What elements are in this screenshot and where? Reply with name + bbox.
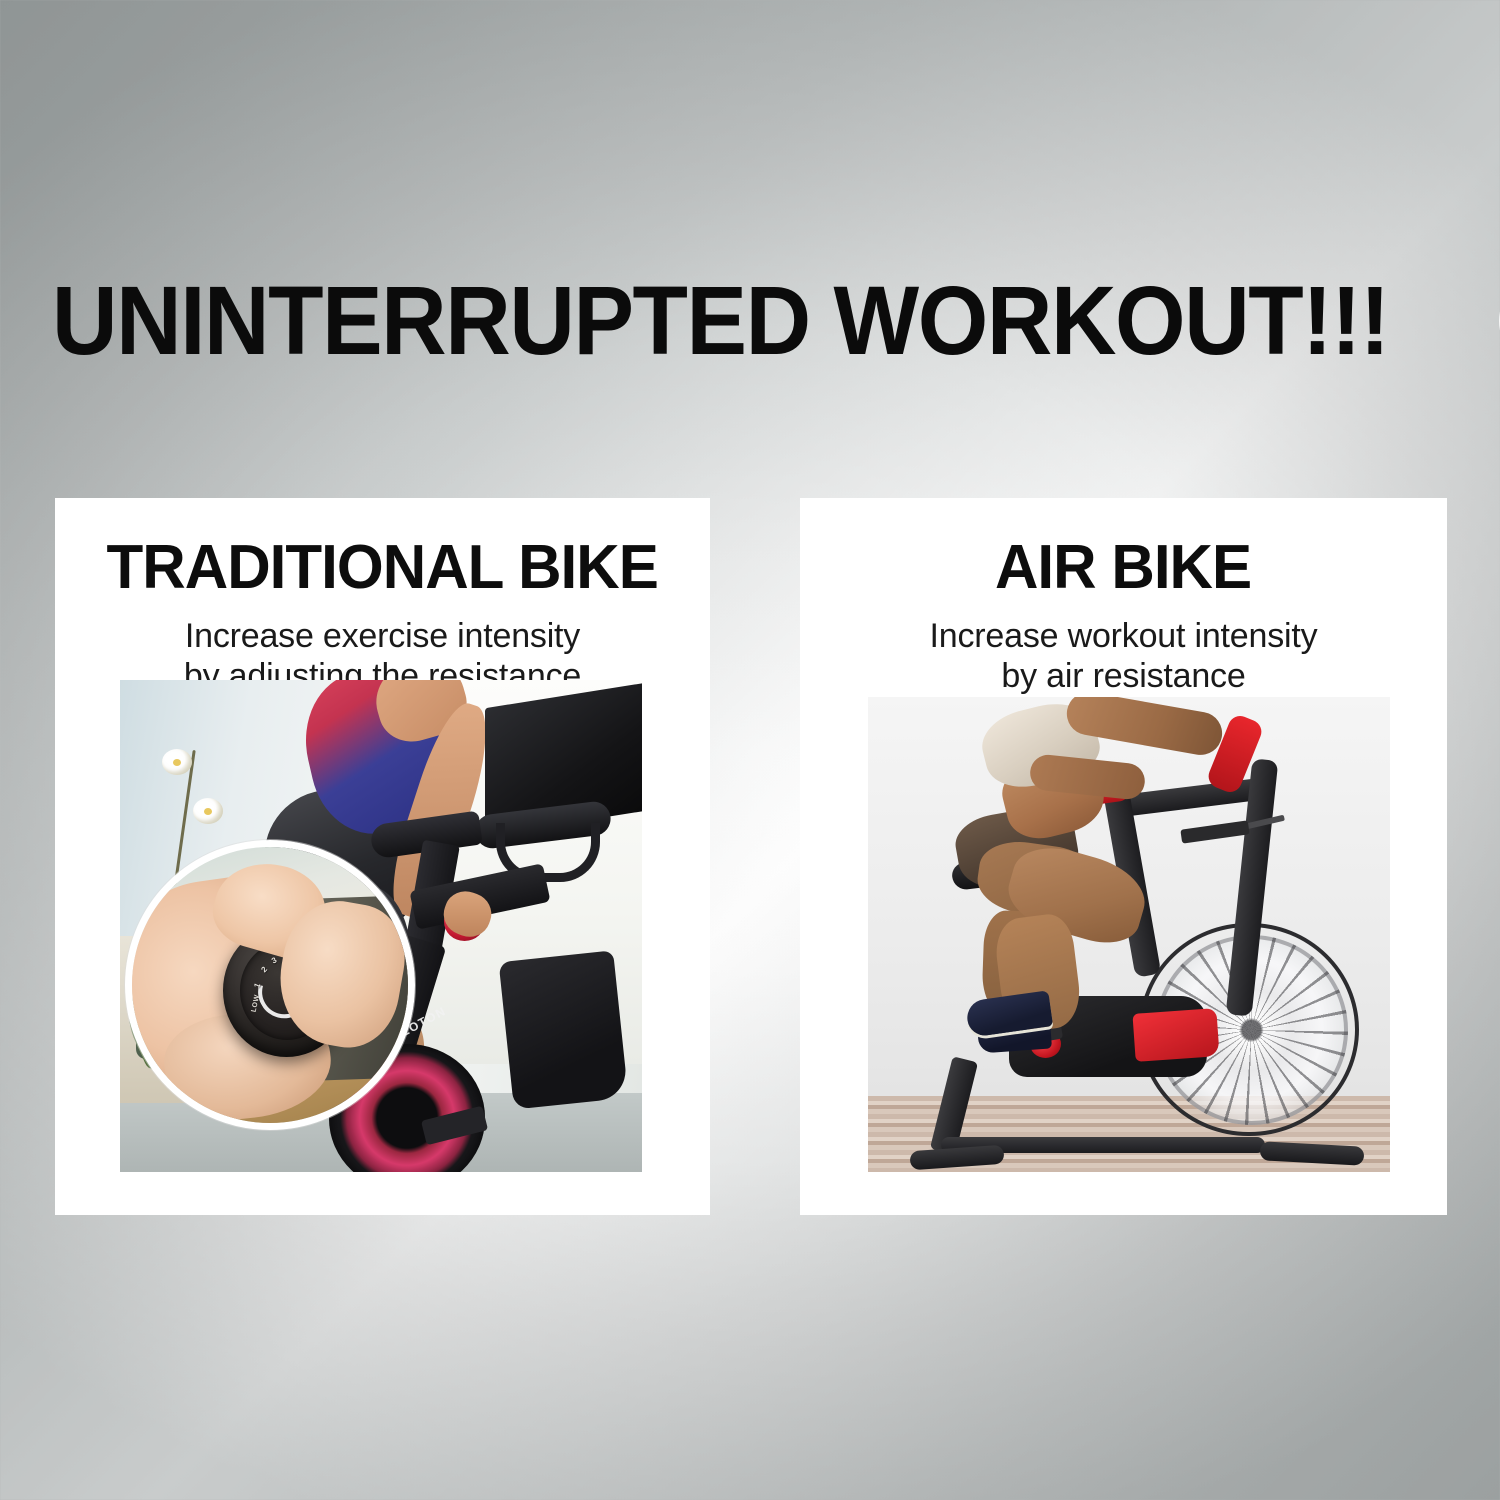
card-subtitle-line1: Increase exercise intensity bbox=[184, 617, 581, 657]
spin-bike-scene: PELOTON 1 2 3 4 5 6 bbox=[120, 680, 642, 1172]
photo-air-bike bbox=[868, 697, 1390, 1172]
photo-traditional-bike: PELOTON 1 2 3 4 5 6 bbox=[120, 680, 642, 1172]
orchid-bloom bbox=[162, 749, 192, 775]
resistance-knob-inset: 1 2 3 4 5 6 7 8 LOW HIGH bbox=[125, 840, 415, 1130]
card-title: TRADITIONAL BIKE bbox=[107, 537, 658, 599]
card-title: AIR BIKE bbox=[995, 537, 1251, 599]
bike-flywheel-cover bbox=[499, 950, 629, 1109]
card-subtitle-line2: by air resistance bbox=[930, 657, 1318, 697]
card-traditional-bike: TRADITIONAL BIKE Increase exercise inten… bbox=[55, 498, 710, 1215]
headline-row: UNINTERRUPTED WORKOUT!!! bbox=[52, 272, 1500, 369]
page-title: UNINTERRUPTED WORKOUT!!! bbox=[52, 272, 1389, 369]
orchid-bloom bbox=[193, 798, 223, 824]
card-subtitle-line1: Increase workout intensity bbox=[930, 617, 1318, 657]
card-air-bike: AIR BIKE Increase workout intensity by a… bbox=[800, 498, 1447, 1215]
knob-label-low: LOW bbox=[251, 994, 262, 1013]
card-subtitle: Increase workout intensity by air resist… bbox=[930, 617, 1318, 697]
air-bike-red-cover bbox=[1133, 1008, 1220, 1061]
knob-number: 3 bbox=[271, 956, 279, 966]
air-bike-scene bbox=[868, 697, 1390, 1172]
